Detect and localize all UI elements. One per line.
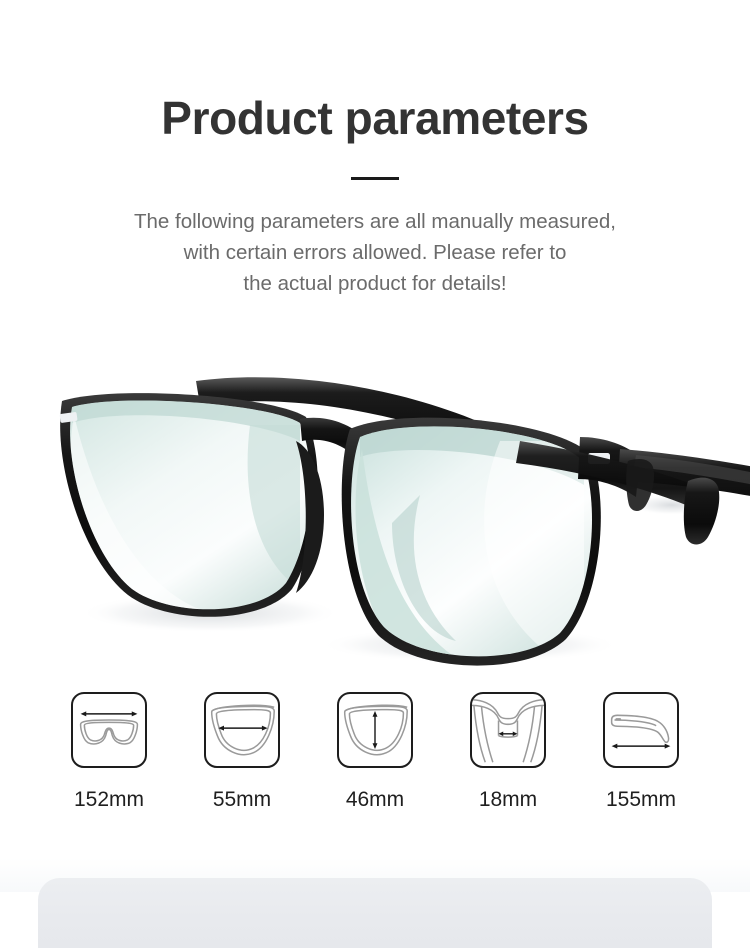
spec-item-lens-width: 55mm — [203, 692, 281, 810]
page-header: Product parameters The following paramet… — [0, 0, 750, 299]
frame-total-width-icon — [71, 692, 147, 768]
next-section-panel-edge — [38, 878, 712, 948]
spec-item-bridge-width: 18mm — [469, 692, 547, 810]
spec-label-temple-length: 155mm — [606, 789, 676, 810]
temple-length-icon — [603, 692, 679, 768]
page-title: Product parameters — [0, 0, 750, 144]
spec-label-bridge-width: 18mm — [479, 789, 537, 810]
subtitle-line-2: with certain errors allowed. Please refe… — [55, 237, 695, 268]
spec-label-total-frame-width: 152mm — [74, 789, 144, 810]
product-photo-eyeglasses — [0, 345, 750, 675]
bridge-width-icon — [470, 692, 546, 768]
lens-width-icon — [204, 692, 280, 768]
spec-item-total-frame-width: 152mm — [70, 692, 148, 810]
title-divider — [351, 177, 399, 180]
subtitle-line-3: the actual product for details! — [55, 268, 695, 299]
lens-height-icon — [337, 692, 413, 768]
subtitle-line-1: The following parameters are all manuall… — [55, 206, 695, 237]
page-subtitle: The following parameters are all manuall… — [55, 206, 695, 299]
spec-item-lens-height: 46mm — [336, 692, 414, 810]
spec-item-temple-length: 155mm — [602, 692, 680, 810]
spec-label-lens-height: 46mm — [346, 789, 404, 810]
spec-label-lens-width: 55mm — [213, 789, 271, 810]
specs-row: 152mm 55mm — [0, 692, 750, 810]
